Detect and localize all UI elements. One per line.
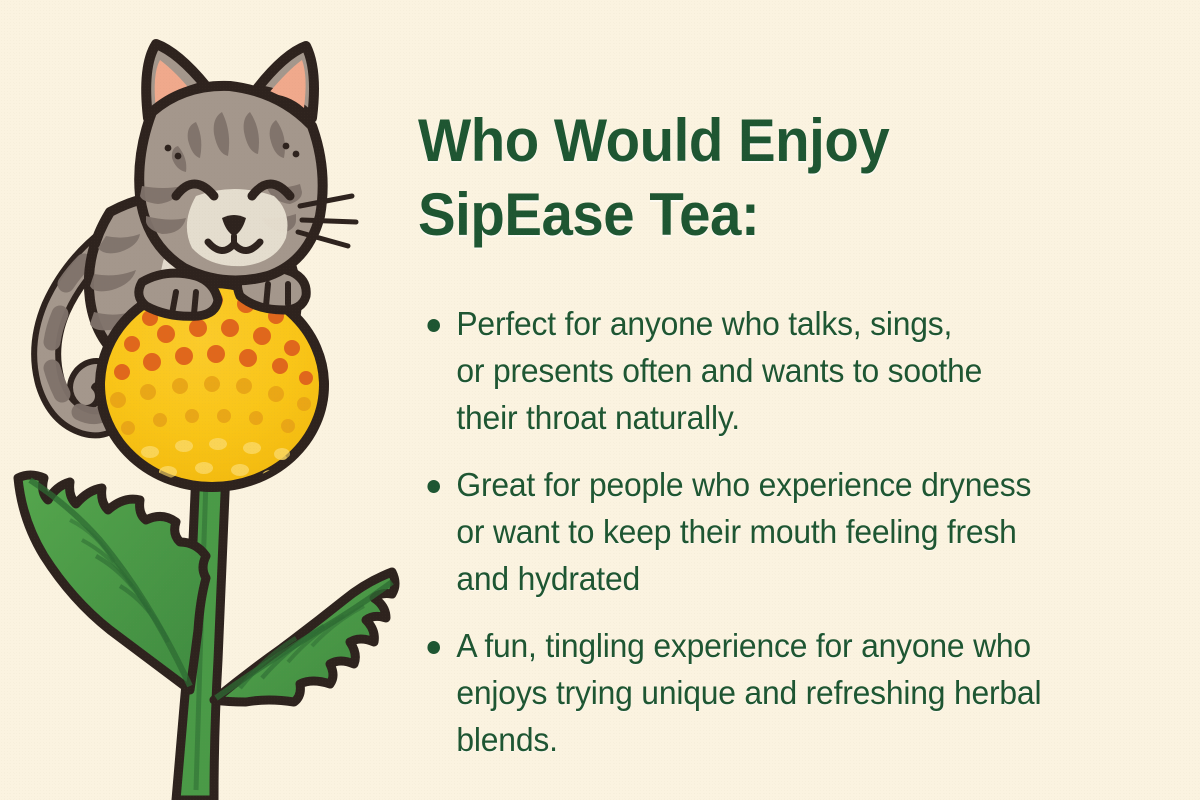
cat-head: [139, 44, 356, 281]
list-item: Great for people who experience dryness …: [412, 461, 1126, 602]
list-item-text: A fun, tingling experience for anyone wh…: [456, 622, 1126, 763]
bullet-dot-icon: [427, 319, 440, 332]
poster-canvas: Who Would Enjoy SipEase Tea: Perfect for…: [0, 0, 1200, 800]
bullet-dot-icon: [427, 480, 440, 493]
bullet-dot-icon: [427, 641, 440, 654]
benefits-list: Perfect for anyone who talks, sings, or …: [412, 300, 1152, 763]
leaf-right: [214, 572, 395, 702]
cat-on-flower-illustration: [0, 0, 400, 800]
page-title: Who Would Enjoy SipEase Tea:: [418, 104, 1076, 252]
text-column: Who Would Enjoy SipEase Tea: Perfect for…: [412, 0, 1192, 800]
list-item: Perfect for anyone who talks, sings, or …: [412, 300, 1126, 441]
list-item-text: Perfect for anyone who talks, sings, or …: [456, 300, 1126, 441]
list-item-text: Great for people who experience dryness …: [456, 461, 1126, 602]
list-item: A fun, tingling experience for anyone wh…: [412, 622, 1126, 763]
leaf-left: [18, 475, 206, 690]
